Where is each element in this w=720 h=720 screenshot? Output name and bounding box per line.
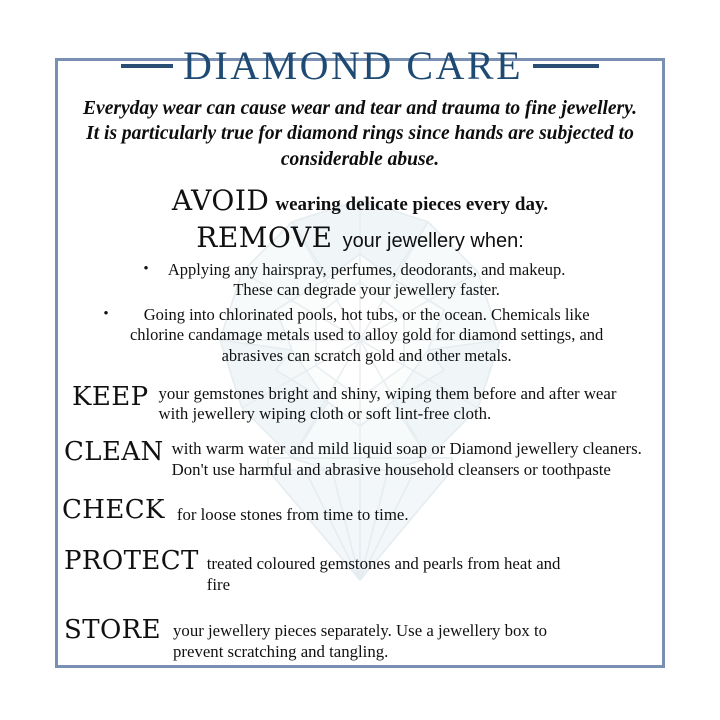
keyword-remove: REMOVE bbox=[196, 221, 332, 254]
title-block: DIAMOND CARE bbox=[58, 42, 662, 90]
diamond-care-poster: DIAMOND CARE Everyday wear can cause wea… bbox=[0, 0, 720, 720]
tip-text-check: for loose stones from time to time. bbox=[177, 497, 409, 526]
tip-row-protect: PROTECT treated coloured gemstones and p… bbox=[58, 548, 662, 596]
tip-text-clean: with warm water and mild liquid soap or … bbox=[172, 437, 652, 481]
list-item-text: Going into chlorinated pools, hot tubs, … bbox=[117, 305, 617, 365]
list-item: • Applying any hairspray, perfumes, deod… bbox=[58, 260, 662, 300]
list-item-text: Applying any hairspray, perfumes, deodor… bbox=[157, 260, 577, 300]
intro-paragraph: Everyday wear can cause wear and tear an… bbox=[80, 96, 640, 172]
keyword-protect: PROTECT bbox=[64, 548, 207, 574]
tip-text-protect: treated coloured gemstones and pearls fr… bbox=[207, 548, 587, 596]
tip-row-clean: CLEAN with warm water and mild liquid so… bbox=[58, 437, 662, 481]
lead-remove: REMOVEyour jewellery when: bbox=[58, 221, 662, 254]
poster-content: DIAMOND CARE Everyday wear can cause wea… bbox=[58, 40, 662, 685]
tip-row-store: STORE your jewellery pieces separately. … bbox=[58, 617, 662, 663]
tip-text-keep: your gemstones bright and shiny, wiping … bbox=[158, 382, 638, 426]
lead-avoid: AVOIDwearing delicate pieces every day. bbox=[58, 184, 662, 217]
tip-text-store: your jewellery pieces separately. Use a … bbox=[173, 617, 573, 663]
lead-remove-text: your jewellery when: bbox=[343, 230, 524, 252]
bullet-list: • Applying any hairspray, perfumes, deod… bbox=[58, 260, 662, 366]
keyword-keep: KEEP bbox=[72, 382, 158, 410]
keyword-avoid: AVOID bbox=[172, 184, 270, 217]
tip-row-keep: KEEP your gemstones bright and shiny, wi… bbox=[58, 382, 662, 426]
title-rule-right-icon bbox=[533, 64, 599, 68]
bullet-dot-icon: • bbox=[103, 305, 108, 323]
list-item: • Going into chlorinated pools, hot tubs… bbox=[58, 305, 662, 365]
keyword-clean: CLEAN bbox=[64, 437, 172, 465]
keyword-check: CHECK bbox=[62, 497, 177, 523]
lead-avoid-text: wearing delicate pieces every day. bbox=[275, 194, 548, 215]
page-title: DIAMOND CARE bbox=[183, 46, 523, 86]
keyword-store: STORE bbox=[64, 617, 173, 643]
bullet-dot-icon: • bbox=[143, 260, 148, 278]
tip-row-check: CHECK for loose stones from time to time… bbox=[58, 497, 662, 526]
title-rule-left-icon bbox=[121, 64, 173, 68]
